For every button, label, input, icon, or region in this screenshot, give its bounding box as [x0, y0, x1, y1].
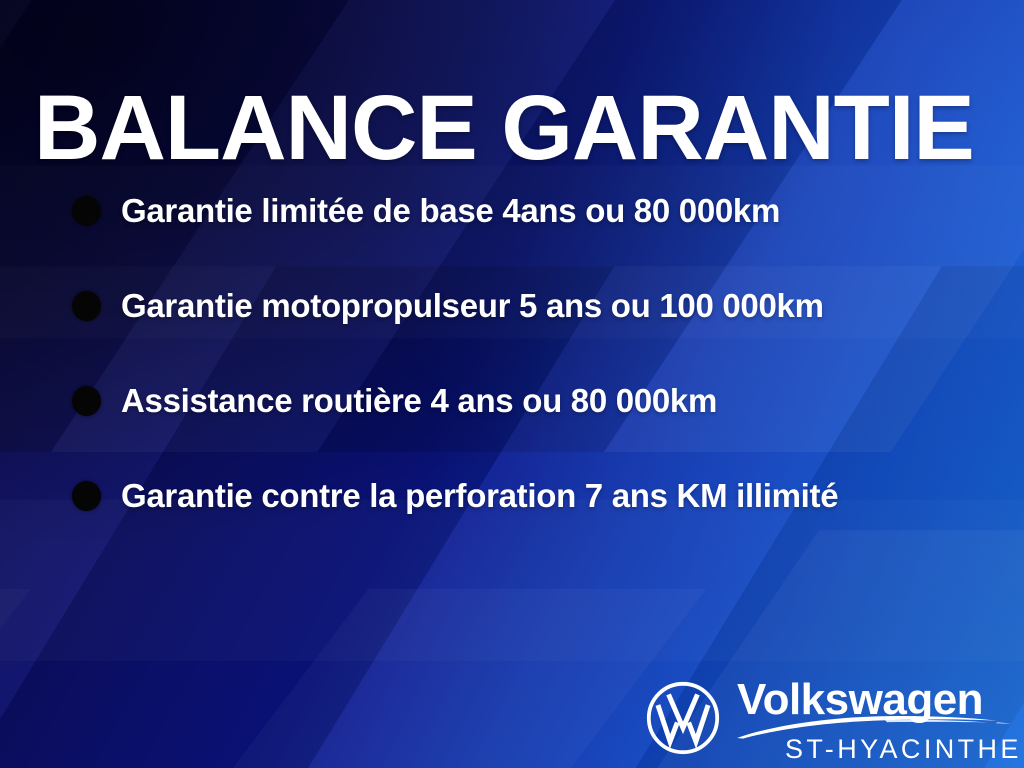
dealer-logo: Volkswagen ST-HYACINTHE	[645, 676, 1020, 762]
list-item-label: Garantie contre la perforation 7 ans KM …	[121, 477, 838, 515]
page-title: BALANCE GARANTIE	[34, 80, 994, 177]
list-item-label: Garantie limitée de base 4ans ou 80 000k…	[121, 192, 780, 230]
list-item: Garantie motopropulseur 5 ans ou 100 000…	[0, 283, 1024, 378]
list-item: Garantie limitée de base 4ans ou 80 000k…	[0, 188, 1024, 283]
bullet-dot-icon	[72, 481, 101, 511]
bullet-dot-icon	[72, 386, 101, 416]
volkswagen-roundel-icon	[645, 680, 721, 756]
benefits-list: Garantie limitée de base 4ans ou 80 000k…	[0, 188, 1024, 568]
list-item: Assistance routière 4 ans ou 80 000km	[0, 378, 1024, 473]
list-item-label: Assistance routière 4 ans ou 80 000km	[121, 382, 717, 420]
bullet-dot-icon	[72, 291, 101, 321]
logo-text-block: Volkswagen ST-HYACINTHE	[737, 676, 1020, 762]
slide-content: BALANCE GARANTIE Garantie limitée de bas…	[0, 0, 1024, 768]
slide-canvas: BALANCE GARANTIE Garantie limitée de bas…	[0, 0, 1024, 768]
dealer-name: ST-HYACINTHE	[785, 734, 1022, 765]
list-item-label: Garantie motopropulseur 5 ans ou 100 000…	[121, 287, 824, 325]
list-item: Garantie contre la perforation 7 ans KM …	[0, 473, 1024, 568]
bullet-dot-icon	[72, 196, 101, 226]
